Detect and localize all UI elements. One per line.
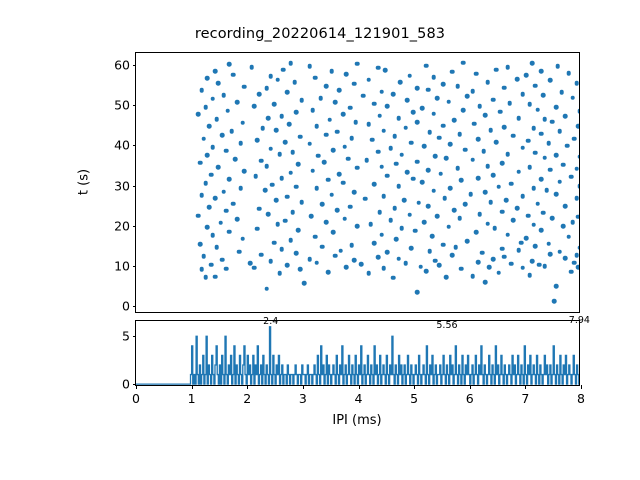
scatter-point — [539, 177, 544, 182]
scatter-point — [279, 176, 284, 181]
scatter-point — [366, 122, 371, 127]
scatter-point — [520, 145, 525, 150]
scatter-point — [400, 226, 405, 231]
scatter-point — [459, 266, 464, 271]
scatter-point — [494, 140, 499, 145]
scatter-point — [199, 88, 204, 93]
scatter-point — [377, 210, 382, 215]
scatter-point — [333, 100, 338, 105]
scatter-point — [500, 161, 505, 166]
scatter-point — [299, 200, 304, 205]
hist-x-tick-label: 8 — [577, 391, 585, 406]
scatter-point — [569, 270, 574, 275]
scatter-point — [322, 160, 327, 165]
scatter-point — [380, 232, 385, 237]
scatter-point — [504, 198, 509, 203]
scatter-point — [285, 263, 290, 268]
scatter-point — [544, 188, 549, 193]
scatter-point — [391, 276, 396, 281]
scatter-point — [444, 156, 449, 161]
scatter-point — [237, 249, 242, 254]
scatter-point — [448, 186, 453, 191]
scatter-point — [437, 135, 442, 140]
scatter-point — [307, 141, 312, 146]
scatter-point — [392, 206, 397, 211]
scatter-point — [435, 96, 440, 101]
scatter-point — [528, 102, 533, 107]
scatter-point — [205, 225, 210, 230]
scatter-point — [515, 206, 520, 211]
scatter-point — [476, 260, 481, 265]
scatter-point — [539, 131, 544, 136]
scatter-point — [331, 230, 336, 235]
scatter-point — [214, 245, 219, 250]
scatter-point — [537, 262, 542, 267]
scatter-point — [279, 114, 284, 119]
scatter-point — [520, 194, 525, 199]
scatter-point — [477, 212, 482, 217]
scatter-point — [541, 211, 546, 216]
scatter-point — [291, 150, 296, 155]
scatter-point — [439, 172, 444, 177]
scatter-point — [209, 172, 214, 177]
scatter-point — [492, 226, 497, 231]
scatter-point — [248, 261, 253, 266]
scatter-point — [294, 251, 299, 256]
scatter-point — [558, 249, 563, 254]
scatter-point — [224, 148, 229, 153]
scatter-point — [203, 181, 208, 186]
scatter-point — [424, 269, 429, 274]
hist-x-tick-mark — [136, 385, 137, 389]
scatter-point — [361, 93, 366, 98]
scatter-point — [524, 73, 529, 78]
scatter-point — [474, 72, 479, 77]
scatter-point — [452, 208, 457, 213]
scatter-point — [516, 116, 521, 121]
scatter-point — [199, 193, 204, 198]
scatter-point — [268, 74, 273, 79]
y-tick-mark — [133, 145, 137, 146]
scatter-point — [563, 204, 568, 209]
scatter-point — [426, 168, 431, 173]
scatter-point — [283, 219, 288, 224]
scatter-point — [550, 119, 555, 124]
scatter-point — [272, 240, 277, 245]
scatter-point — [505, 152, 510, 157]
scatter-point — [576, 265, 579, 270]
scatter-point — [578, 245, 579, 250]
scatter-point — [463, 147, 468, 152]
hist-x-tick-label: 5 — [410, 391, 418, 406]
scatter-point — [285, 194, 290, 199]
scatter-point — [533, 150, 538, 155]
scatter-point — [511, 133, 516, 138]
scatter-point — [437, 263, 442, 268]
scatter-point — [344, 265, 349, 270]
scatter-point — [288, 61, 293, 66]
scatter-point — [376, 66, 381, 71]
hist-y-tick-label: 5 — [122, 329, 130, 344]
hist-x-tick-label: 3 — [299, 391, 307, 406]
scatter-point — [203, 105, 208, 110]
scatter-point — [435, 214, 440, 219]
scatter-point — [213, 274, 218, 279]
scatter-point — [266, 212, 271, 217]
scatter-point — [485, 221, 490, 226]
hist-x-tick-mark — [359, 385, 360, 389]
scatter-point — [496, 270, 501, 275]
scatter-point — [500, 209, 505, 214]
scatter-point — [470, 89, 475, 94]
scatter-point — [574, 253, 579, 258]
scatter-point — [296, 228, 301, 233]
scatter-point — [570, 220, 575, 225]
hist-x-tick-label: 4 — [355, 391, 363, 406]
scatter-point — [470, 158, 475, 163]
scatter-point — [388, 218, 393, 223]
scatter-point — [548, 168, 553, 173]
histogram-panel: 05012345678 2.45.567.94 — [135, 320, 580, 386]
scatter-point — [470, 274, 475, 279]
hist-x-tick-mark — [525, 385, 526, 389]
scatter-point — [426, 204, 431, 209]
scatter-point — [422, 220, 427, 225]
scatter-point — [431, 75, 436, 80]
scatter-points-layer — [136, 53, 579, 312]
scatter-point — [292, 80, 297, 85]
scatter-point — [561, 224, 566, 229]
scatter-point — [259, 158, 264, 163]
scatter-point — [483, 190, 488, 195]
scatter-point — [276, 78, 281, 83]
scatter-point — [446, 225, 451, 230]
scatter-point — [411, 176, 416, 181]
hist-x-tick-mark — [470, 385, 471, 389]
scatter-point — [242, 84, 247, 89]
scatter-point — [242, 169, 247, 174]
hist-x-tick-label: 6 — [466, 391, 474, 406]
scatter-point — [372, 241, 377, 246]
scatter-point — [338, 248, 343, 253]
scatter-point — [274, 198, 279, 203]
scatter-point — [314, 124, 319, 129]
scatter-point — [394, 237, 399, 242]
scatter-point — [344, 72, 349, 77]
scatter-point — [520, 266, 525, 271]
scatter-point — [335, 208, 340, 213]
hist-x-tick-mark — [247, 385, 248, 389]
scatter-point — [366, 77, 371, 82]
scatter-point — [196, 112, 201, 117]
scatter-point — [502, 254, 507, 259]
scatter-point — [330, 192, 335, 197]
y-tick-label: 50 — [114, 98, 130, 113]
scatter-point — [294, 110, 299, 115]
scatter-point — [528, 273, 533, 278]
scatter-point — [452, 118, 457, 123]
scatter-point — [359, 262, 364, 267]
scatter-point — [524, 236, 529, 241]
scatter-point — [526, 138, 531, 143]
hist-x-tick-mark — [414, 385, 415, 389]
y-tick-label: 40 — [114, 138, 130, 153]
scatter-point — [302, 281, 307, 286]
scatter-point — [419, 264, 424, 269]
scatter-point — [394, 162, 399, 167]
y-tick-label: 10 — [114, 258, 130, 273]
scatter-point — [528, 165, 533, 170]
hist-y-tick-mark — [133, 336, 137, 337]
hist-x-tick-label: 1 — [188, 391, 196, 406]
scatter-point — [252, 266, 257, 271]
scatter-point — [403, 261, 408, 266]
scatter-point — [314, 186, 319, 191]
scatter-point — [489, 200, 494, 205]
scatter-point — [450, 253, 455, 258]
scatter-point — [572, 260, 577, 265]
scatter-point — [566, 235, 571, 240]
scatter-point — [444, 275, 449, 280]
scatter-point — [381, 266, 386, 271]
scatter-point — [213, 196, 218, 201]
scatter-point — [483, 113, 488, 118]
scatter-point — [264, 164, 269, 169]
scatter-point — [313, 76, 318, 81]
x-axis-label: IPI (ms) — [332, 413, 381, 428]
scatter-point — [559, 90, 564, 95]
scatter-point — [541, 93, 546, 98]
scatter-point — [396, 256, 401, 261]
scatter-point — [496, 184, 501, 189]
scatter-point — [385, 104, 390, 109]
scatter-point — [574, 196, 579, 201]
scatter-point — [543, 264, 548, 269]
scatter-point — [210, 145, 215, 150]
scatter-point — [222, 189, 227, 194]
scatter-point — [454, 245, 459, 250]
scatter-point — [326, 270, 331, 275]
scatter-point — [270, 182, 275, 187]
scatter-point — [202, 136, 207, 141]
scatter-point — [516, 170, 521, 175]
scatter-point — [563, 256, 568, 261]
scatter-point — [380, 89, 385, 94]
scatter-point — [558, 180, 563, 185]
scatter-point — [207, 205, 212, 210]
scatter-point — [505, 65, 510, 70]
scatter-point — [441, 242, 446, 247]
scatter-point — [220, 257, 225, 262]
scatter-point — [535, 107, 540, 112]
scatter-point — [307, 64, 312, 69]
scatter-point — [442, 196, 447, 201]
scatter-point — [543, 156, 548, 161]
scatter-point — [481, 149, 486, 154]
scatter-point — [427, 249, 432, 254]
scatter-point — [249, 65, 254, 70]
scatter-point — [558, 129, 563, 134]
scatter-point — [476, 137, 481, 142]
scatter-point — [578, 109, 579, 114]
scatter-point — [283, 140, 288, 145]
scatter-point — [229, 129, 234, 134]
scatter-point — [561, 162, 566, 167]
hist-x-tick-label: 0 — [132, 391, 140, 406]
peak-label: 5.56 — [436, 320, 457, 331]
scatter-point — [433, 154, 438, 159]
scatter-point — [520, 92, 525, 97]
scatter-point — [214, 117, 219, 122]
scatter-point — [225, 109, 230, 114]
scatter-point — [342, 144, 347, 149]
scatter-point — [531, 223, 536, 228]
y-tick-label: 0 — [122, 298, 130, 313]
scatter-point — [570, 95, 575, 100]
scatter-point — [355, 166, 360, 171]
scatter-point — [539, 228, 544, 233]
scatter-point — [469, 192, 474, 197]
scatter-point — [385, 250, 390, 255]
scatter-point — [224, 266, 229, 271]
scatter-point — [563, 114, 568, 119]
scatter-point — [509, 262, 514, 267]
scatter-point — [238, 141, 243, 146]
scatter-point — [196, 213, 201, 218]
scatter-point — [257, 92, 262, 97]
scatter-point — [366, 271, 371, 276]
scatter-point — [324, 84, 329, 89]
scatter-point — [235, 217, 240, 222]
scatter-point — [330, 69, 335, 74]
scatter-plot-panel: 0102030405060 — [135, 52, 580, 313]
scatter-point — [465, 94, 470, 99]
scatter-point — [420, 106, 425, 111]
scatter-point — [320, 244, 325, 249]
scatter-point — [288, 238, 293, 243]
scatter-point — [279, 247, 284, 252]
scatter-point — [255, 138, 260, 143]
scatter-point — [287, 122, 292, 127]
scatter-point — [578, 184, 579, 189]
hist-x-tick-label: 2 — [243, 391, 251, 406]
scatter-point — [552, 299, 557, 304]
scatter-point — [415, 86, 420, 91]
scatter-point — [326, 178, 331, 183]
scatter-point — [424, 64, 429, 69]
scatter-point — [457, 216, 462, 221]
scatter-point — [376, 255, 381, 260]
scatter-point — [348, 204, 353, 209]
scatter-point — [566, 71, 571, 76]
scatter-point — [531, 126, 536, 131]
scatter-point — [411, 110, 416, 115]
scatter-point — [274, 128, 279, 133]
scatter-point — [546, 141, 551, 146]
peak-label: 7.94 — [569, 315, 590, 326]
scatter-point — [268, 146, 273, 151]
scatter-point — [198, 160, 203, 165]
scatter-point — [216, 81, 221, 86]
scatter-point — [355, 224, 360, 229]
peak-label: 2.4 — [263, 316, 278, 327]
scatter-point — [572, 136, 577, 141]
scatter-point — [276, 222, 281, 227]
scatter-point — [352, 81, 357, 86]
scatter-point — [511, 218, 516, 223]
scatter-point — [574, 166, 579, 171]
scatter-point — [222, 93, 227, 98]
scatter-point — [255, 227, 260, 232]
scatter-point — [381, 194, 386, 199]
scatter-point — [298, 267, 303, 272]
scatter-point — [554, 153, 559, 158]
scatter-point — [210, 233, 215, 238]
scatter-point — [413, 229, 418, 234]
scatter-point — [224, 209, 229, 214]
scatter-point — [554, 192, 559, 197]
hist-x-tick-mark — [192, 385, 193, 389]
histogram-trace — [136, 321, 579, 385]
scatter-point — [333, 253, 338, 258]
hist-x-tick-mark — [581, 385, 582, 389]
scatter-point — [220, 133, 225, 138]
scatter-point — [548, 78, 553, 83]
scatter-point — [316, 153, 321, 158]
scatter-point — [259, 252, 264, 257]
y-axis-label: t (s) — [77, 169, 92, 195]
y-tick-label: 20 — [114, 218, 130, 233]
scatter-point — [318, 96, 323, 101]
scatter-point — [530, 61, 535, 66]
scatter-point — [324, 220, 329, 225]
scatter-point — [569, 174, 574, 179]
scatter-point — [218, 221, 223, 226]
hist-y-tick-label: 0 — [122, 377, 130, 392]
scatter-point — [381, 128, 386, 133]
scatter-point — [291, 210, 296, 215]
scatter-point — [539, 69, 544, 74]
hist-x-tick-label: 7 — [521, 391, 529, 406]
scatter-point — [448, 142, 453, 147]
scatter-point — [216, 165, 221, 170]
scatter-point — [199, 267, 204, 272]
scatter-point — [450, 70, 455, 75]
scatter-point — [485, 80, 490, 85]
scatter-point — [508, 101, 513, 106]
scatter-point — [391, 92, 396, 97]
scatter-point — [576, 124, 579, 129]
scatter-point — [465, 239, 470, 244]
scatter-point — [205, 76, 210, 81]
scatter-point — [331, 148, 336, 153]
scatter-point — [392, 134, 397, 139]
scatter-point — [431, 111, 436, 116]
scatter-point — [554, 105, 559, 110]
scatter-point — [405, 170, 410, 175]
scatter-point — [461, 108, 466, 113]
scatter-point — [502, 85, 507, 90]
scatter-point — [498, 109, 503, 114]
scatter-point — [252, 104, 257, 109]
scatter-point — [337, 172, 342, 177]
scatter-point — [565, 143, 570, 148]
scatter-point — [407, 213, 412, 218]
scatter-point — [314, 260, 319, 265]
y-tick-mark — [133, 186, 137, 187]
scatter-point — [296, 162, 301, 167]
scatter-point — [416, 200, 421, 205]
